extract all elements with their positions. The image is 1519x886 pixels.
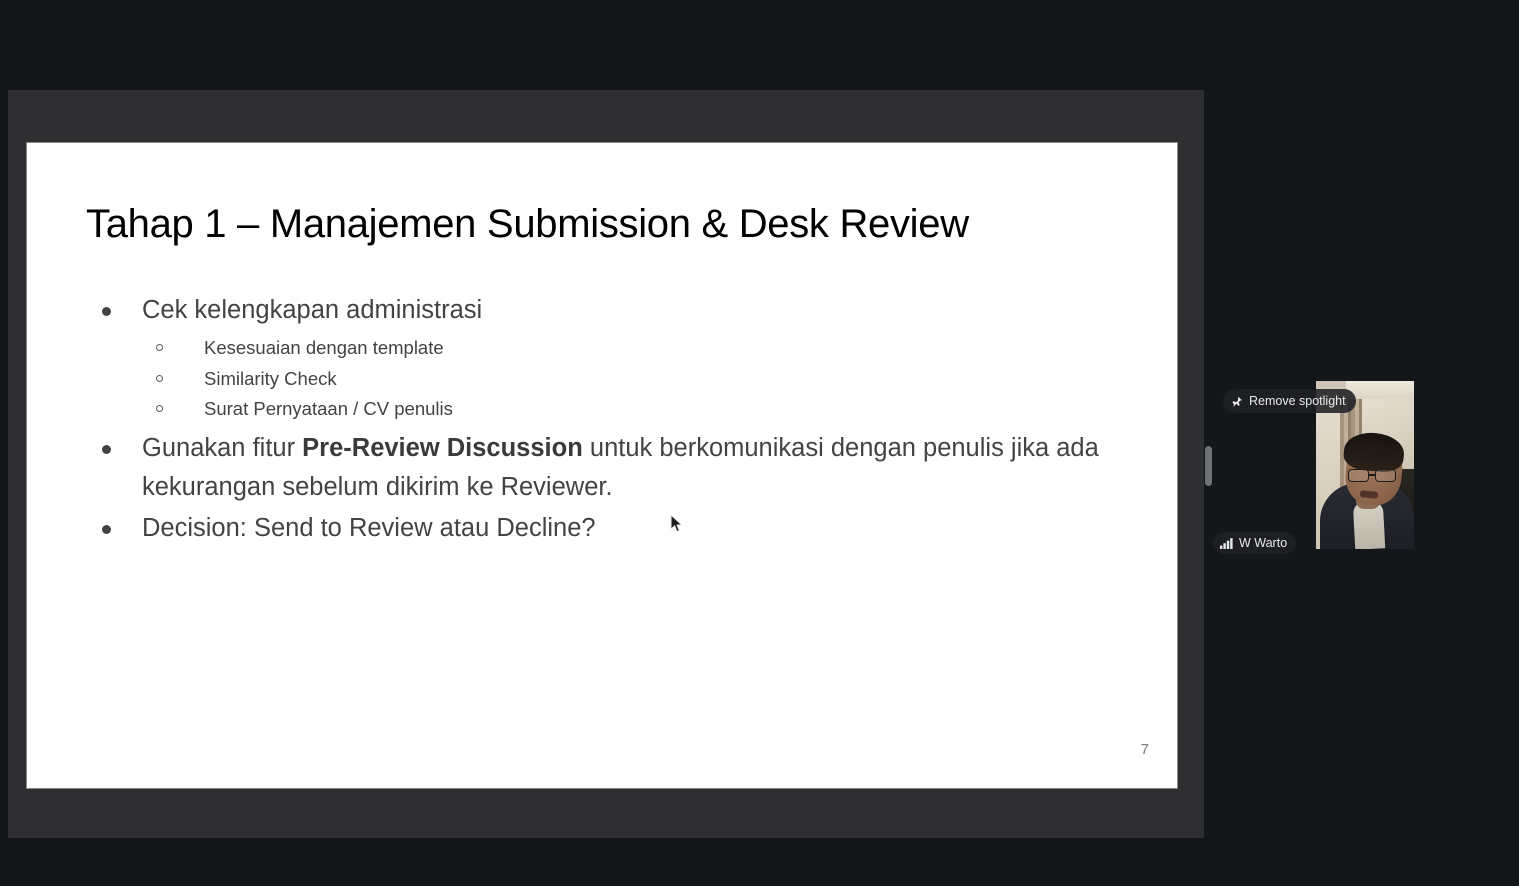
slide-page-number: 7 — [1141, 741, 1149, 758]
remove-spotlight-label: Remove spotlight — [1249, 393, 1346, 409]
bullet-marker-filled-icon — [102, 307, 111, 316]
bullet-item: Gunakan fitur Pre-Review Discussion untu… — [86, 429, 1146, 507]
glasses-lens-left — [1348, 469, 1369, 482]
bullet-item: Cek kelengkapan administrasi Kesesuaian … — [86, 291, 1146, 425]
sub-bullet-item: Similarity Check — [142, 364, 1146, 395]
glasses-lens-right — [1375, 469, 1396, 482]
video-person-glasses — [1348, 469, 1400, 482]
signal-bars-icon — [1220, 538, 1233, 549]
sub-bullet-item: Surat Pernyataan / CV penulis — [142, 394, 1146, 425]
sub-bullet-text: Surat Pernyataan / CV penulis — [204, 398, 453, 419]
bullet-item: Decision: Send to Review atau Decline? — [86, 509, 1146, 548]
pin-icon — [1231, 395, 1243, 408]
bullet-marker-hollow-icon — [156, 375, 163, 382]
bullet-text: Cek kelengkapan administrasi — [142, 296, 482, 324]
video-person-mouth — [1360, 490, 1379, 499]
bullet-text: Decision: Send to Review atau Decline? — [142, 514, 596, 542]
sub-bullet-text: Similarity Check — [204, 368, 337, 389]
participant-name-label: W Warto — [1239, 535, 1287, 551]
bullet-text-run: Gunakan fitur — [142, 434, 302, 462]
screen-share-stage: Tahap 1 – Manajemen Submission & Desk Re… — [0, 0, 1519, 886]
bullet-text-run-bold: Pre-Review Discussion — [302, 434, 583, 462]
bullet-marker-hollow-icon — [156, 344, 163, 351]
shared-screen-frame: Tahap 1 – Manajemen Submission & Desk Re… — [8, 90, 1204, 838]
slide-body: Cek kelengkapan administrasi Kesesuaian … — [86, 291, 1146, 550]
remove-spotlight-button[interactable]: Remove spotlight — [1223, 389, 1356, 413]
bullet-list-level-2: Kesesuaian dengan template Similarity Ch… — [142, 333, 1146, 425]
presentation-slide[interactable]: Tahap 1 – Manajemen Submission & Desk Re… — [27, 143, 1177, 788]
participant-name-badge: W Warto — [1213, 532, 1296, 554]
sub-bullet-item: Kesesuaian dengan template — [142, 333, 1146, 364]
bullet-marker-hollow-icon — [156, 405, 163, 412]
panel-resize-handle[interactable] — [1205, 446, 1212, 486]
bullet-list-level-1: Cek kelengkapan administrasi Kesesuaian … — [86, 291, 1146, 548]
bullet-marker-filled-icon — [102, 445, 111, 454]
bullet-marker-filled-icon — [102, 525, 111, 534]
sub-bullet-text: Kesesuaian dengan template — [204, 337, 444, 358]
slide-title: Tahap 1 – Manajemen Submission & Desk Re… — [86, 201, 1126, 247]
video-ceiling — [1346, 381, 1414, 399]
